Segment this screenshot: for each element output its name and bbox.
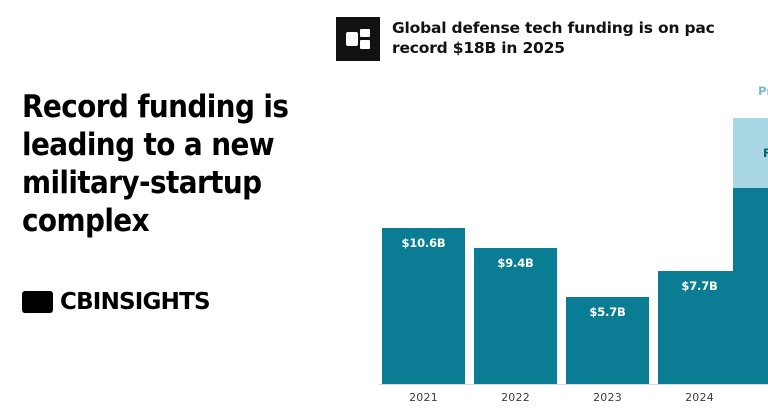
bar-2023[interactable]: $5.7B (566, 297, 649, 384)
annotation-funding: Fun $ (733, 146, 768, 176)
bar-2024[interactable]: $7.7B (658, 271, 741, 384)
screenshot-root: Record funding is leading to a new milit… (0, 0, 768, 413)
brand-name: CBINSIGHTS (60, 291, 210, 313)
bar-value-2022: $9.4B (474, 256, 557, 270)
bar-value-2021: $10.6B (382, 236, 465, 250)
bar-2022[interactable]: $9.4B (474, 248, 557, 384)
bar-2025-funding[interactable] (733, 188, 768, 384)
annotation-projected-label: Proje (758, 84, 768, 98)
bar-value-2024: $7.7B (658, 279, 741, 293)
cbinsights-logo-mark-icon (22, 291, 53, 313)
annotation-projected-amount: $ (733, 99, 768, 114)
article-promo-panel: Record funding is leading to a new milit… (0, 0, 331, 413)
cbinsights-brand-lockup: CBINSIGHTS (22, 291, 210, 313)
annotation-projected: Proje $ (733, 84, 768, 114)
bar-2021[interactable]: $10.6B (382, 228, 465, 384)
bar-chart-plot: $10.6B 2021 $9.4B 2022 $5.7B 2023 $7.7B … (331, 0, 768, 413)
x-tick-2023: 2023 (566, 391, 649, 404)
chart-card: Global defense tech funding is on pac re… (331, 0, 768, 413)
x-axis-line (379, 384, 768, 385)
page-title: Record funding is leading to a new milit… (22, 88, 322, 240)
x-tick-2021: 2021 (382, 391, 465, 404)
bar-value-2023: $5.7B (566, 305, 649, 319)
annotation-funding-amount: $ (733, 161, 768, 176)
x-tick-2024: 2024 (658, 391, 741, 404)
annotation-funding-label: Fun (763, 146, 768, 160)
x-tick-2022: 2022 (474, 391, 557, 404)
